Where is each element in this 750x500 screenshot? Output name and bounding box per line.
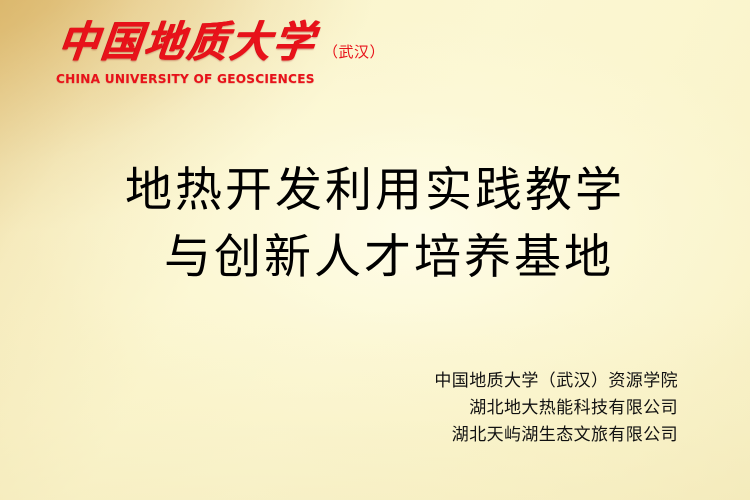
university-logo: 中国地质大学 （武汉） CHINA UNIVERSITY OF GEOSCIEN… [56, 24, 396, 86]
affiliation-line-2: 湖北地大热能科技有限公司 [434, 395, 678, 422]
university-location-wuhan: （武汉） [323, 45, 385, 64]
title-slide: 中国地质大学 （武汉） CHINA UNIVERSITY OF GEOSCIEN… [0, 0, 750, 500]
affiliation-block: 中国地质大学（武汉）资源学院 湖北地大热能科技有限公司 湖北天屿湖生态文旅有限公… [434, 368, 678, 449]
title-line-1: 地热开发利用实践教学 [0, 158, 750, 225]
university-logo-primary-row: 中国地质大学 （武汉） [56, 24, 396, 64]
affiliation-line-1: 中国地质大学（武汉）资源学院 [434, 368, 678, 395]
university-name-chinese: 中国地质大学 [56, 22, 319, 64]
university-name-english: CHINA UNIVERSITY OF GEOSCIENCES [56, 71, 386, 86]
page-title: 地热开发利用实践教学 与创新人才培养基地 [0, 158, 750, 291]
affiliation-line-3: 湖北天屿湖生态文旅有限公司 [434, 422, 678, 449]
title-line-2: 与创新人才培养基地 [0, 225, 750, 292]
